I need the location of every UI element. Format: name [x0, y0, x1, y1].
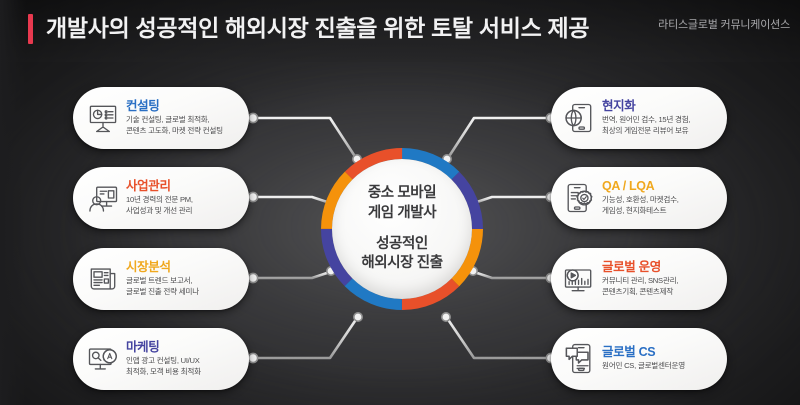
card-desc-line-2: 글로벌 진출 전략 세미나 — [126, 287, 241, 298]
hub-face: 중소 모바일 게임 개발사 성공적인 해외시장 진출 — [332, 159, 472, 299]
card-title: 현지화 — [602, 99, 717, 114]
hub-line-4: 해외시장 진출 — [361, 254, 442, 274]
card-marketing[interactable]: 마케팅 인앱 광고 컨설팅, UI/UX 최적화, 모객 비용 최적화 — [73, 328, 249, 390]
monitor-ad-icon — [83, 339, 123, 379]
person-monitor-icon — [83, 178, 123, 218]
card-desc-line-2: 최적화, 모객 비용 최적화 — [126, 367, 241, 378]
card-global-operation[interactable]: 글로벌 운영 커뮤니티 관리, SNS관리, 콘텐츠기획, 콘텐츠제작 — [551, 248, 727, 310]
card-body: 마케팅 인앱 광고 컨설팅, UI/UX 최적화, 모객 비용 최적화 — [123, 340, 241, 378]
card-desc-line-1: 커뮤니티 관리, SNS관리, — [602, 276, 717, 287]
card-market-analysis[interactable]: 시장분석 글로벌 트렌드 보고서, 글로벌 진출 전략 세미나 — [73, 248, 249, 310]
phone-globe-icon — [559, 98, 599, 138]
card-desc-line-2: 사업성과 및 개선 관리 — [126, 206, 241, 217]
slide-canvas: 개발사의 성공적인 해외시장 진출을 위한 토탈 서비스 제공 라티스글로벌 커… — [0, 0, 800, 405]
card-body: 컨설팅 기술 컨설팅, 글로벌 최적화, 콘텐츠 고도화, 마켓 전략 컨설팅 — [123, 99, 241, 137]
card-title: 시장분석 — [126, 260, 241, 275]
phone-gear-icon — [559, 178, 599, 218]
card-qa-lqa[interactable]: QA / LQA 기능성, 호환성, 마켓검수, 게임성, 현지화테스트 — [551, 167, 727, 229]
card-desc-line-2: 최상의 게임전문 리뷰어 보유 — [602, 126, 717, 137]
card-desc-line-1: 글로벌 트렌드 보고서, — [126, 276, 241, 287]
card-desc-line-2: 게임성, 현지화테스트 — [602, 206, 717, 217]
card-localization[interactable]: 현지화 번역, 원어민 검수, 15년 경험, 최상의 게임전문 리뷰어 보유 — [551, 87, 727, 149]
card-title: 글로벌 운영 — [602, 260, 717, 275]
card-body: QA / LQA 기능성, 호환성, 마켓검수, 게임성, 현지화테스트 — [599, 179, 717, 217]
card-body: 사업관리 10년 경력의 전문 PM, 사업성과 및 개선 관리 — [123, 179, 241, 217]
card-desc-line-1: 기능성, 호환성, 마켓검수, — [602, 195, 717, 206]
monitor-media-icon — [559, 259, 599, 299]
hub-line-1: 중소 모바일 — [368, 184, 436, 204]
card-desc-line-1: 원어민 CS, 글로벌센터운영 — [602, 361, 717, 372]
card-desc-line-1: 인앱 광고 컨설팅, UI/UX — [126, 356, 241, 367]
card-desc-line-1: 번역, 원어민 검수, 15년 경험, — [602, 115, 717, 126]
phone-chat-icon — [559, 339, 599, 379]
card-title: QA / LQA — [602, 179, 717, 194]
card-title: 마케팅 — [126, 340, 241, 355]
card-desc-line-2: 콘텐츠기획, 콘텐츠제작 — [602, 287, 717, 298]
card-title: 사업관리 — [126, 179, 241, 194]
card-business-management[interactable]: 사업관리 10년 경력의 전문 PM, 사업성과 및 개선 관리 — [73, 167, 249, 229]
center-hub: 중소 모바일 게임 개발사 성공적인 해외시장 진출 — [321, 148, 483, 310]
presentation-chart-icon — [83, 98, 123, 138]
card-desc-line-2: 콘텐츠 고도화, 마켓 전략 컨설팅 — [126, 126, 241, 137]
card-body: 시장분석 글로벌 트렌드 보고서, 글로벌 진출 전략 세미나 — [123, 260, 241, 298]
card-body: 글로벌 CS 원어민 CS, 글로벌센터운영 — [599, 345, 717, 373]
newspaper-icon — [83, 259, 123, 299]
card-consulting[interactable]: 컨설팅 기술 컨설팅, 글로벌 최적화, 콘텐츠 고도화, 마켓 전략 컨설팅 — [73, 87, 249, 149]
card-desc-line-1: 10년 경력의 전문 PM, — [126, 195, 241, 206]
hub-line-2: 게임 개발사 — [368, 204, 436, 224]
hub-line-3: 성공적인 — [376, 235, 428, 255]
card-desc-line-1: 기술 컨설팅, 글로벌 최적화, — [126, 115, 241, 126]
card-global-cs[interactable]: 글로벌 CS 원어민 CS, 글로벌센터운영 — [551, 328, 727, 390]
card-title: 글로벌 CS — [602, 345, 717, 360]
card-body: 글로벌 운영 커뮤니티 관리, SNS관리, 콘텐츠기획, 콘텐츠제작 — [599, 260, 717, 298]
card-title: 컨설팅 — [126, 99, 241, 114]
card-body: 현지화 번역, 원어민 검수, 15년 경험, 최상의 게임전문 리뷰어 보유 — [599, 99, 717, 137]
